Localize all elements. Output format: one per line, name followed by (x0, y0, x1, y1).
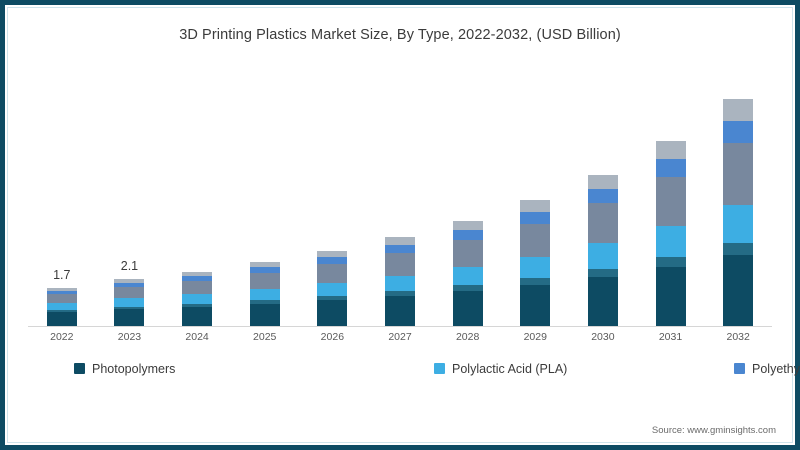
x-tick-label: 2031 (641, 331, 701, 343)
stacked-bar[interactable] (520, 200, 550, 326)
bar-segment[interactable] (656, 267, 686, 326)
bar-segment[interactable] (114, 287, 144, 299)
bar-segment[interactable] (723, 243, 753, 255)
x-tick-label: 2024 (167, 331, 227, 343)
bar-segment[interactable] (385, 276, 415, 291)
bar-segment[interactable] (182, 294, 212, 303)
legend-item-label: Photopolymers (92, 362, 175, 376)
x-axis-line (28, 326, 772, 327)
legend-item-label: Polyethylene Terephthalate (PETG) (752, 362, 800, 376)
bar-segment[interactable] (385, 253, 415, 276)
bar-segment[interactable] (453, 221, 483, 230)
bar-segment[interactable] (723, 255, 753, 326)
bar-group (520, 200, 550, 326)
bar-segment[interactable] (723, 205, 753, 243)
bar-segment[interactable] (250, 289, 280, 300)
bar-segment[interactable] (385, 296, 415, 326)
bar-segment[interactable] (47, 303, 77, 310)
bar-segment[interactable] (317, 257, 347, 264)
bar-segment[interactable] (588, 175, 618, 189)
bar-segment[interactable] (588, 203, 618, 243)
legend-item-pla[interactable]: Polylactic Acid (PLA) (434, 358, 734, 379)
bar-group (385, 237, 415, 326)
legend-swatch-icon (434, 363, 445, 374)
x-tick-label: 2030 (573, 331, 633, 343)
x-tick-label: 2026 (302, 331, 362, 343)
stacked-bar[interactable] (250, 262, 280, 326)
stacked-bar[interactable] (182, 272, 212, 326)
bar-segment[interactable] (114, 298, 144, 306)
bar-segment[interactable] (317, 300, 347, 326)
bar-value-label: 1.7 (32, 268, 92, 282)
bar-segment[interactable] (656, 159, 686, 177)
bar-segment[interactable] (385, 245, 415, 253)
x-tick-label: 2029 (505, 331, 565, 343)
bar-segment[interactable] (182, 307, 212, 326)
bar-group (250, 262, 280, 326)
stacked-bar[interactable] (453, 221, 483, 326)
bar-segment[interactable] (588, 277, 618, 326)
bar-segment[interactable] (453, 240, 483, 267)
bar-segment[interactable] (520, 200, 550, 211)
legend-swatch-icon (734, 363, 745, 374)
bar-segment[interactable] (317, 264, 347, 283)
stacked-bar[interactable] (47, 288, 77, 326)
x-tick-label: 2027 (370, 331, 430, 343)
stacked-bar[interactable] (114, 279, 144, 326)
stacked-bar[interactable] (723, 99, 753, 326)
bar-segment[interactable] (656, 226, 686, 257)
bar-segment[interactable] (520, 212, 550, 224)
legend-item-label: Polylactic Acid (PLA) (452, 362, 567, 376)
bar-segment[interactable] (453, 291, 483, 326)
bar-segment[interactable] (453, 230, 483, 240)
bar-group (317, 251, 347, 326)
bar-segment[interactable] (723, 143, 753, 205)
bar-value-label: 2.1 (99, 259, 159, 273)
bar-segment[interactable] (47, 312, 77, 326)
bar-segment[interactable] (723, 121, 753, 143)
bar-group (656, 141, 686, 326)
bar-group: 1.7 (47, 288, 77, 326)
legend: PhotopolymersPolylactic Acid (PLA)Polyet… (74, 358, 734, 379)
bar-segment[interactable] (656, 257, 686, 267)
stacked-bar[interactable] (385, 237, 415, 326)
x-axis-tick-labels: 2022202320242025202620272028202920302031… (28, 331, 772, 351)
bar-segment[interactable] (182, 281, 212, 294)
legend-swatch-icon (74, 363, 85, 374)
bar-segment[interactable] (453, 267, 483, 285)
legend-item-photopolymers[interactable]: Photopolymers (74, 358, 434, 379)
bar-segment[interactable] (656, 177, 686, 227)
source-attribution: Source: www.gminsights.com (652, 425, 776, 436)
page-title: 3D Printing Plastics Market Size, By Typ… (0, 27, 800, 43)
bar-segment[interactable] (250, 304, 280, 326)
bar-group (723, 99, 753, 326)
plot-area: 1.72.1 (28, 62, 772, 326)
x-tick-label: 2028 (438, 331, 498, 343)
bar-group (588, 175, 618, 326)
stacked-bar[interactable] (588, 175, 618, 326)
bar-segment[interactable] (47, 294, 77, 303)
bar-group: 2.1 (114, 279, 144, 326)
bar-segment[interactable] (588, 189, 618, 204)
bar-segment[interactable] (656, 141, 686, 159)
bar-group (453, 221, 483, 326)
bar-segment[interactable] (317, 283, 347, 296)
x-tick-label: 2023 (99, 331, 159, 343)
bar-group (182, 272, 212, 326)
bar-segment[interactable] (385, 237, 415, 245)
stacked-bar[interactable] (317, 251, 347, 326)
legend-item-petg[interactable]: Polyethylene Terephthalate (PETG) (734, 358, 800, 379)
chart-screenshot: 3D Printing Plastics Market Size, By Typ… (0, 0, 800, 450)
bar-segment[interactable] (520, 278, 550, 285)
bar-segment[interactable] (588, 243, 618, 269)
x-tick-label: 2025 (235, 331, 295, 343)
x-tick-label: 2032 (708, 331, 768, 343)
bar-segment[interactable] (588, 269, 618, 277)
bar-segment[interactable] (520, 224, 550, 257)
bar-segment[interactable] (723, 99, 753, 121)
bar-segment[interactable] (520, 257, 550, 278)
stacked-bar[interactable] (656, 141, 686, 326)
x-tick-label: 2022 (32, 331, 92, 343)
bar-segment[interactable] (114, 309, 144, 326)
bar-segment[interactable] (250, 273, 280, 289)
bar-segment[interactable] (520, 285, 550, 326)
